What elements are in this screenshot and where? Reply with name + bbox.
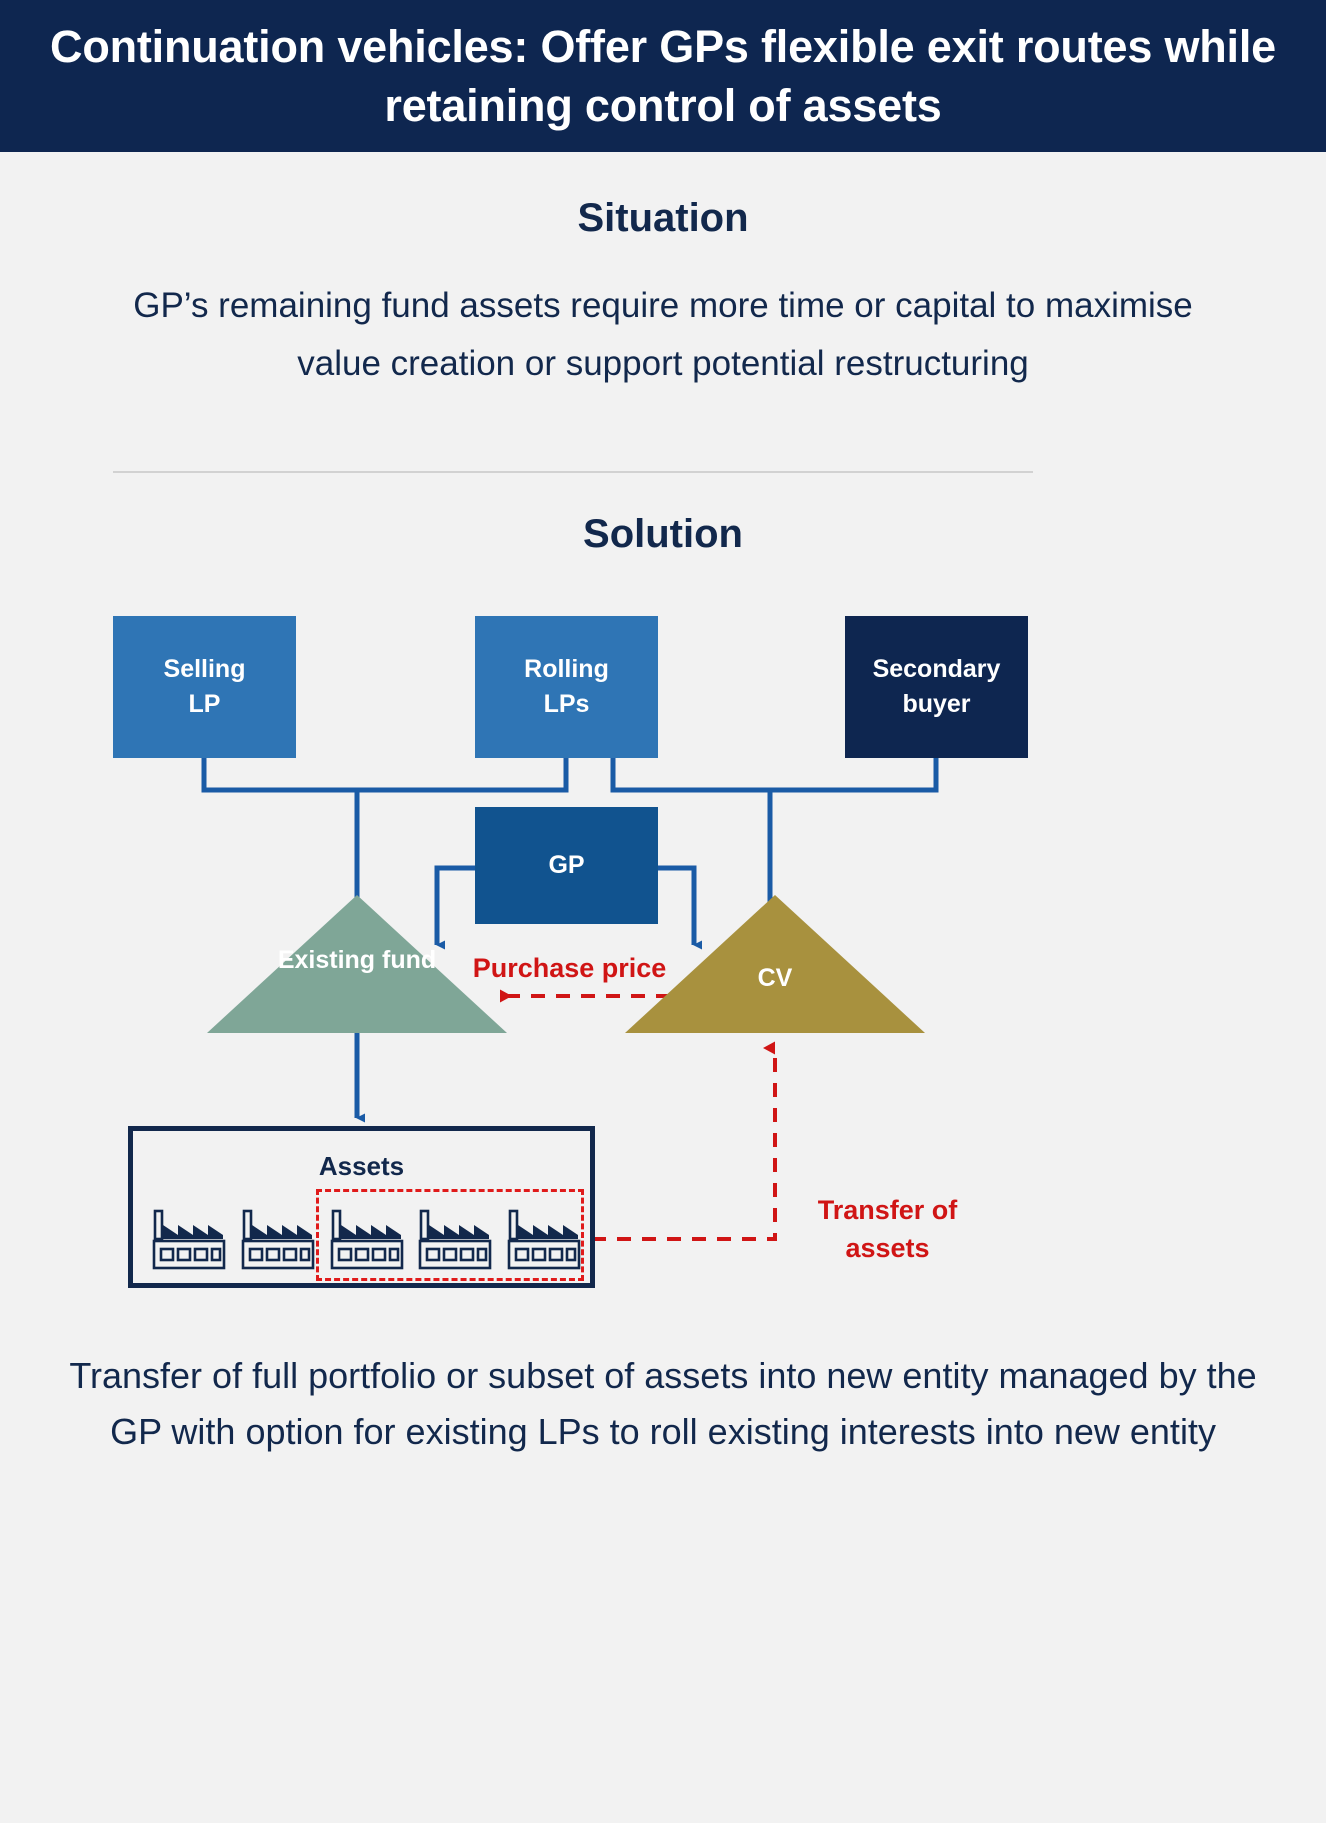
node-rolling-lps-line2: LPs — [544, 687, 590, 723]
assets-container[interactable]: Assets — [128, 1126, 595, 1288]
node-selling-lp[interactable]: Selling LP — [113, 616, 296, 758]
node-secondary-buyer[interactable]: Secondary buyer — [845, 616, 1028, 758]
slide-canvas: Continuation vehicles: Offer GPs flexibl… — [0, 0, 1326, 1823]
node-secondary-buyer-line1: Secondary — [873, 652, 1001, 688]
assets-title: Assets — [133, 1151, 590, 1182]
transfer-of-assets-line1: Transfer of — [818, 1195, 958, 1225]
transfer-of-assets-line2: assets — [845, 1233, 929, 1263]
node-gp-label: GP — [548, 848, 584, 884]
node-cv-line1: CV — [758, 964, 793, 992]
node-selling-lp-line2: LP — [189, 687, 221, 723]
purchase-price-label: Purchase price — [452, 950, 687, 988]
assets-highlight-selection — [316, 1189, 584, 1281]
node-secondary-buyer-line2: buyer — [902, 687, 970, 723]
node-existing-fund-line1: Existing — [278, 946, 375, 974]
footer-description: Transfer of full portfolio or subset of … — [45, 1348, 1281, 1460]
transfer-of-assets-label: Transfer of assets — [780, 1192, 995, 1268]
transfer-of-assets-arrow — [592, 1048, 775, 1239]
factory-icon — [149, 1203, 229, 1275]
node-existing-fund-line2: fund — [382, 946, 436, 974]
factory-icon — [238, 1203, 318, 1275]
node-rolling-lps-line1: Rolling — [524, 652, 609, 688]
node-selling-lp-line1: Selling — [164, 652, 246, 688]
node-rolling-lps[interactable]: Rolling LPs — [475, 616, 658, 758]
